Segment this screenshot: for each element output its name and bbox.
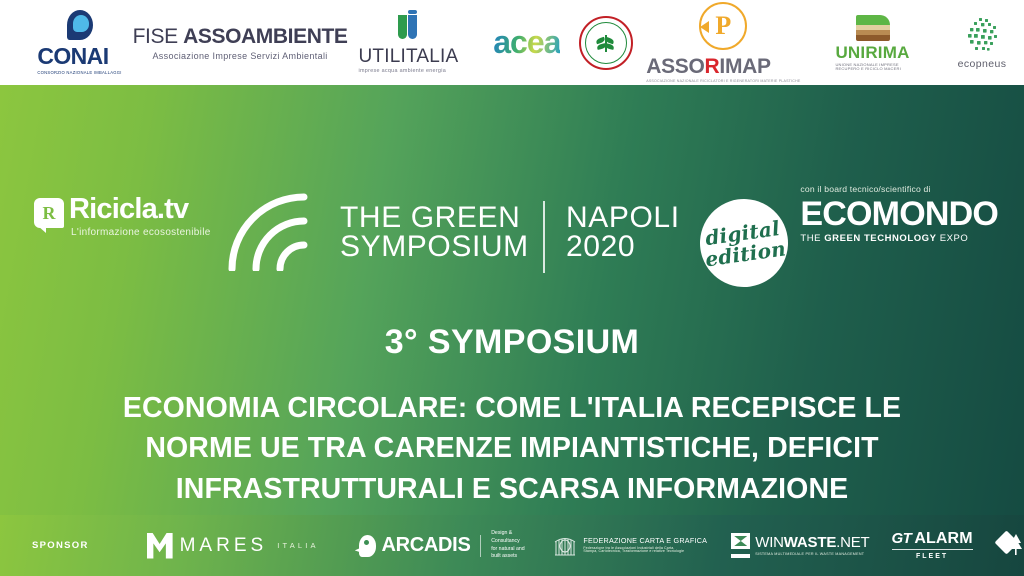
unirima-name: UNIRIMA bbox=[835, 44, 909, 61]
federazione-name: FEDERAZIONE CARTA E GRAFICA bbox=[583, 537, 707, 544]
acea-name: acea bbox=[493, 24, 560, 61]
arcadis-name: ARCADIS bbox=[381, 534, 470, 557]
symposium-wifi-arcs-icon bbox=[228, 193, 324, 271]
sponsor-logo-federazione-carta-grafica: FEDERAZIONE CARTA E GRAFICA Federazione … bbox=[553, 534, 707, 558]
mares-m-logo-icon bbox=[147, 533, 173, 559]
partner-logo-utilitalia: UTILITALIA imprese acqua ambiente energi… bbox=[345, 11, 472, 74]
partner-logo-fise-assoambiente: FISE ASSOAMBIENTE Associazione Imprese S… bbox=[157, 25, 323, 61]
gtalarm-name-a: GT bbox=[892, 531, 912, 546]
sponsor-logo-winwaste: WINWASTE.NET SISTEMA MULTIMEDIALE PER IL… bbox=[731, 533, 869, 558]
gtalarm-name-c: FLEET bbox=[892, 553, 973, 560]
arcadis-sub-1: Design & Consultancy bbox=[491, 530, 527, 545]
partner-logo-assorimap: P ASSORIMAP ASSOCIAZIONE NAZIONALE RICIC… bbox=[642, 2, 805, 84]
federazione-sub-2: Stampa, Cartotecnica, Trasformazione e r… bbox=[583, 550, 707, 554]
assorimap-name-a: ASSO bbox=[646, 55, 704, 78]
federazione-carta-grafica-icon bbox=[553, 534, 579, 558]
presentation-slide: CONAI CONSORZIO NAZIONALE IMBALLAGGI FIS… bbox=[0, 0, 1024, 576]
ricicla-tagline: L'informazione ecosostenibile bbox=[71, 228, 211, 238]
ecopneus-globe-icon bbox=[962, 16, 1002, 56]
ricicla-badge-letter: R bbox=[43, 204, 56, 222]
partner-logo-consorzio-italiano-compostatori bbox=[578, 16, 634, 70]
assorimap-name-r: R bbox=[705, 55, 720, 78]
assorimap-logo-icon: P bbox=[699, 2, 747, 50]
winwaste-logo-icon bbox=[731, 533, 750, 558]
headline-line-3: INFRASTRUTTURALI E SCARSA INFORMAZIONE bbox=[50, 469, 974, 509]
digital-edition-badge: digital edition bbox=[694, 193, 793, 292]
sponsor-logo-mares: MARES ITALIA bbox=[147, 533, 319, 559]
winwaste-subtitle: SISTEMA MULTIMEDIALE PER IL WASTE MANAGE… bbox=[755, 553, 869, 557]
sponsor-bar: SPONSOR MARES ITALIA ARCADIS Design & Co… bbox=[0, 515, 1024, 576]
ingeco-logo-icon bbox=[997, 533, 1023, 559]
ecomondo-tagline-a: THE bbox=[800, 233, 824, 244]
ricicla-name: Ricicla.tv bbox=[69, 195, 211, 224]
fise-subtitle: Associazione Imprese Servizi Ambientali bbox=[152, 51, 327, 61]
consorzio-italiano-compostatori-seal-icon bbox=[579, 16, 633, 70]
ecomondo-logo: con il board tecnico/scientifico di ECOM… bbox=[800, 185, 998, 243]
utilitalia-subtitle: imprese acqua ambiente energia bbox=[359, 69, 459, 74]
mares-name: MARES bbox=[180, 535, 268, 557]
winwaste-name-c: .NET bbox=[836, 534, 869, 551]
winwaste-name-b: WASTE bbox=[784, 534, 836, 551]
ecomondo-tagline-c: EXPO bbox=[937, 233, 969, 244]
utilitalia-logo-icon bbox=[398, 11, 418, 41]
arcadis-logo-icon bbox=[359, 535, 377, 557]
arcadis-sub-3: built assets bbox=[491, 553, 527, 561]
sponsor-logo-arcadis: ARCADIS Design & Consultancy for natural… bbox=[359, 530, 528, 560]
partner-logo-conai: CONAI CONSORZIO NAZIONALE IMBALLAGGI bbox=[18, 10, 141, 75]
headline-kicker: 3° SYMPOSIUM bbox=[0, 323, 1024, 362]
conai-logo-icon bbox=[67, 10, 93, 40]
assorimap-subtitle: ASSOCIAZIONE NAZIONALE RICICLATORI E RIG… bbox=[646, 80, 800, 84]
mares-region: ITALIA bbox=[277, 541, 319, 550]
ricicla-badge-icon: R bbox=[34, 198, 64, 228]
sponsor-logo-ingeco: ingeco .sl bbox=[997, 533, 1024, 559]
sponsor-label: SPONSOR bbox=[32, 540, 89, 551]
header-divider bbox=[543, 201, 545, 273]
fise-name-light: FISE bbox=[133, 25, 184, 48]
ecomondo-tagline-b: GREEN TECHNOLOGY bbox=[824, 233, 936, 244]
conai-subtitle: CONSORZIO NAZIONALE IMBALLAGGI bbox=[37, 71, 121, 75]
arcadis-sub-2: for natural and bbox=[491, 546, 527, 554]
ecomondo-name: ECOMONDO bbox=[800, 197, 998, 231]
headline-line-2: NORME UE TRA CARENZE IMPIANTISTICHE, DEF… bbox=[50, 428, 974, 468]
location-city: NAPOLI bbox=[566, 203, 680, 232]
assorimap-name-b: IMAP bbox=[719, 55, 770, 78]
unirima-logo-icon bbox=[856, 15, 890, 41]
partner-logo-acea: acea bbox=[486, 24, 568, 61]
gtalarm-name-b: ALARM bbox=[914, 531, 972, 547]
unirima-subtitle-2: RECUPERO E RICICLO MACERI bbox=[835, 67, 909, 71]
location-year: 2020 bbox=[566, 232, 680, 261]
hero-banner: R Ricicla.tv L'informazione ecosostenibi… bbox=[0, 85, 1024, 515]
sponsor-logo-gt-alarm: GT ALARM FLEET bbox=[892, 531, 973, 560]
ecomondo-pretext: con il board tecnico/scientifico di bbox=[800, 185, 998, 194]
headline-title: ECONOMIA CIRCOLARE: COME L'ITALIA RECEPI… bbox=[50, 388, 974, 509]
partner-logo-unirima: UNIRIMA UNIONE NAZIONALE IMPRESE RECUPER… bbox=[819, 15, 926, 71]
event-location: NAPOLI 2020 bbox=[566, 203, 680, 262]
symposium-line-2: SYMPOSIUM bbox=[340, 232, 529, 261]
winwaste-name-a: WIN bbox=[755, 534, 784, 551]
partner-logo-bar: CONAI CONSORZIO NAZIONALE IMBALLAGGI FIS… bbox=[0, 0, 1024, 85]
utilitalia-name: UTILITALIA bbox=[359, 47, 459, 66]
symposium-line-1: THE GREEN bbox=[340, 203, 529, 232]
ricicla-tv-logo: R Ricicla.tv L'informazione ecosostenibi… bbox=[34, 195, 211, 238]
conai-name: CONAI bbox=[37, 45, 121, 68]
ecopneus-name: ecopneus bbox=[958, 58, 1007, 70]
fise-name-bold: ASSOAMBIENTE bbox=[183, 25, 347, 48]
green-symposium-wordmark: THE GREEN SYMPOSIUM bbox=[340, 203, 529, 262]
headline-line-1: ECONOMIA CIRCOLARE: COME L'ITALIA RECEPI… bbox=[50, 388, 974, 428]
partner-logo-ecopneus: ecopneus bbox=[940, 16, 1024, 70]
